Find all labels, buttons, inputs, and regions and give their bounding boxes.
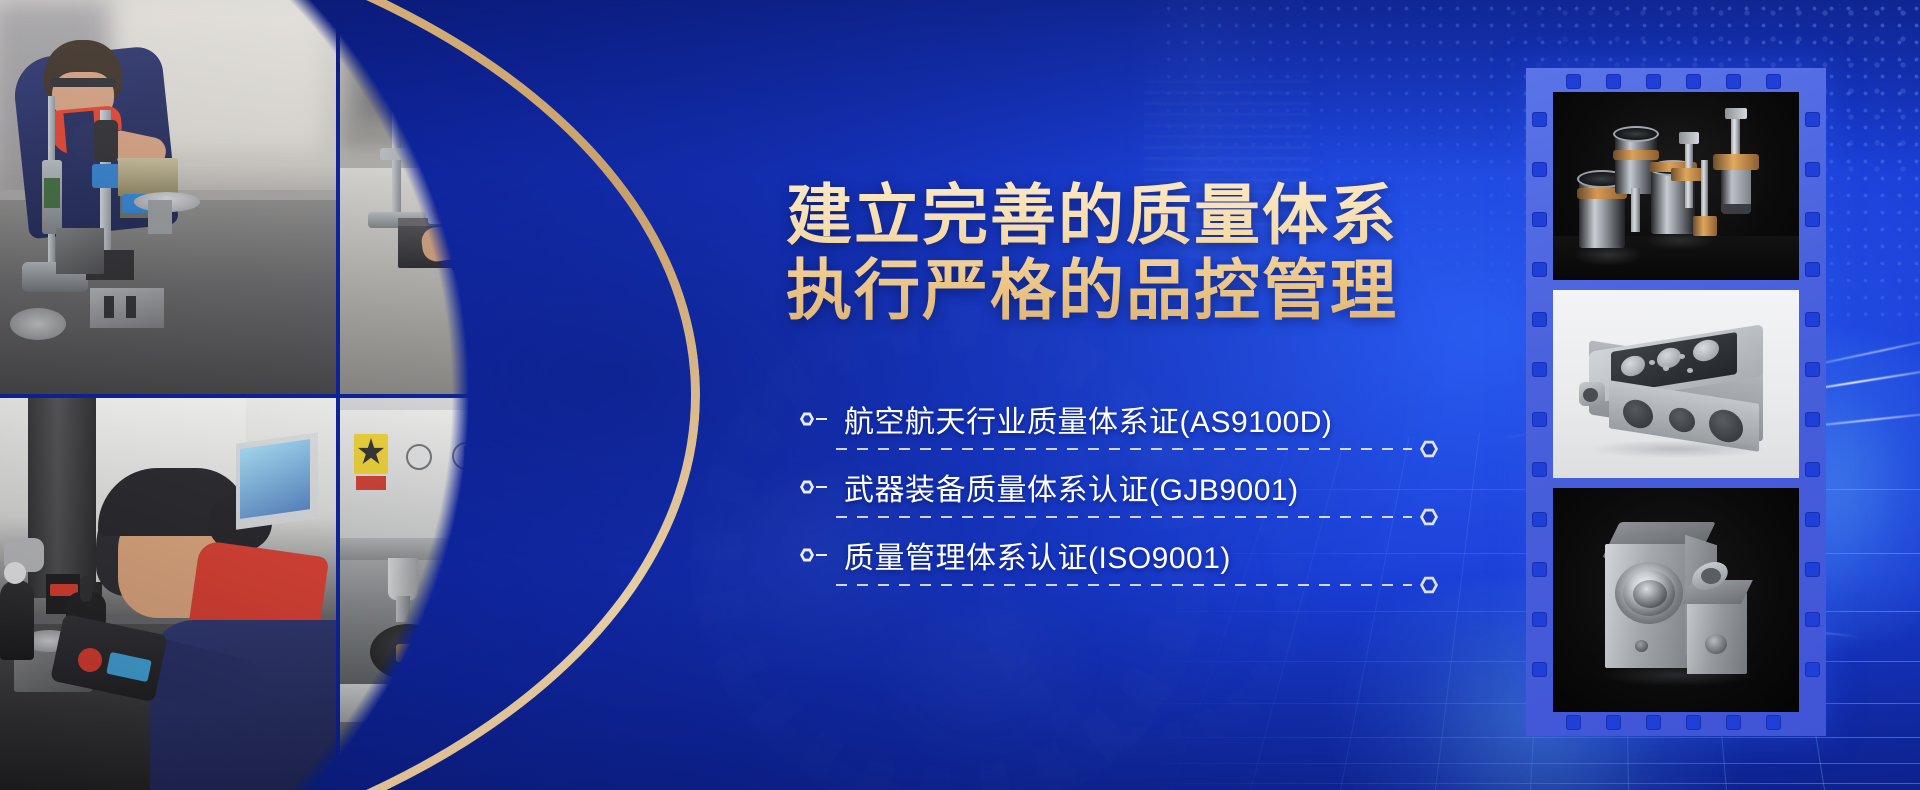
- hexagon-bullet-icon: [800, 411, 826, 427]
- list-item: 武器装备质量体系认证(GJB9001): [800, 464, 1460, 532]
- hexagon-bullet-icon: [800, 547, 826, 563]
- headline-line-2: 执行严格的品控管理: [786, 253, 1486, 328]
- headline-line-1: 建立完善的质量体系: [786, 178, 1398, 252]
- photo-bench-measurement: [340, 0, 672, 394]
- photo-cmm-measurement: [0, 398, 336, 790]
- quality-system-banner: 建立完善的质量体系 执行严格的品控管理 航空航天行业质量体系证(AS9100D)…: [0, 0, 1920, 790]
- hexagon-end-marker-icon: [1420, 440, 1438, 458]
- photo-cnc-machine-operator: [340, 398, 672, 790]
- quality-inspection-photo-collage: [0, 0, 672, 790]
- product-filmstrip-panel: [1526, 68, 1826, 736]
- certification-label: 武器装备质量体系认证(GJB9001): [844, 465, 1299, 509]
- product-shot-bearing-block: [1553, 488, 1799, 712]
- page-title: 建立完善的质量体系 执行严格的品控管理: [786, 178, 1486, 328]
- list-item: 航空航天行业质量体系证(AS9100D): [800, 396, 1460, 464]
- hexagon-bullet-icon: [800, 479, 826, 495]
- photo-height-gauge-inspection: [0, 0, 336, 394]
- hexagon-end-marker-icon: [1420, 576, 1438, 594]
- certification-list: 航空航天行业质量体系证(AS9100D) 武器装备质量体系认证(GJB9001)…: [800, 396, 1460, 600]
- hexagon-end-marker-icon: [1420, 508, 1438, 526]
- dashed-divider: [836, 516, 1412, 518]
- product-shot-aluminum-housing: [1553, 290, 1799, 478]
- certification-label: 质量管理体系认证(ISO9001): [844, 533, 1231, 577]
- list-item: 质量管理体系认证(ISO9001): [800, 532, 1460, 600]
- dashed-divider: [836, 448, 1412, 450]
- certification-label: 航空航天行业质量体系证(AS9100D): [844, 397, 1332, 441]
- product-shot-precision-shafts: [1553, 92, 1799, 280]
- dashed-divider: [836, 584, 1412, 586]
